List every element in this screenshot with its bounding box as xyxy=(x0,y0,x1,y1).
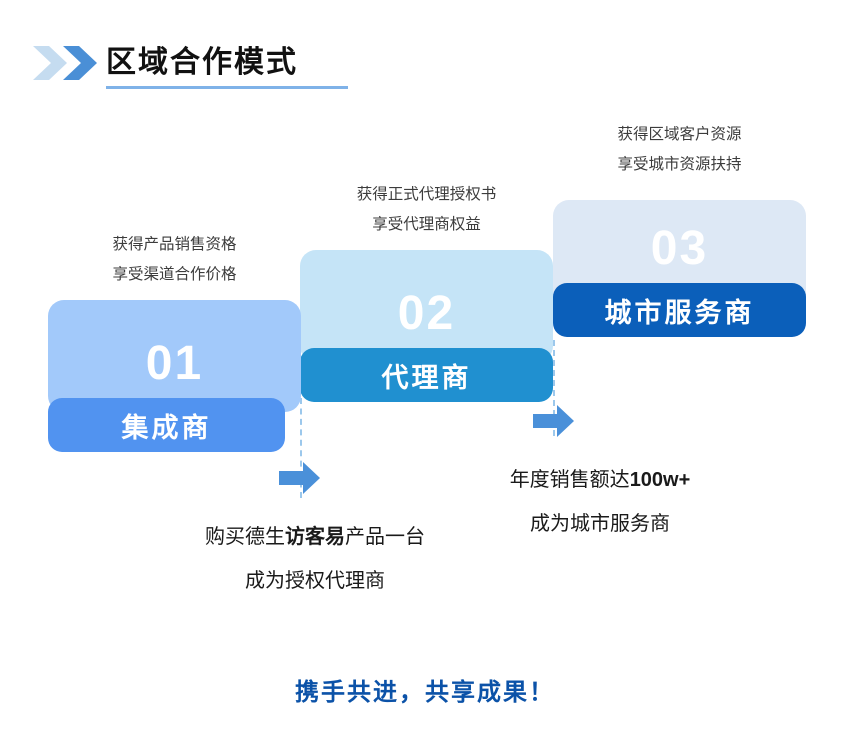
title-underline xyxy=(106,86,348,89)
step-caption-1-line-2: 享受渠道合作价格 xyxy=(48,260,301,290)
step-number-2: 02 xyxy=(300,290,553,338)
page-title: 区域合作模式 xyxy=(106,44,298,82)
step-card-1-band: 集成商 xyxy=(48,398,285,452)
step-name-3: 城市服务商 xyxy=(605,291,755,330)
requirement-note-2-line-1: 年度销售额达100w+ xyxy=(430,458,770,502)
step-caption-2: 获得正式代理授权书 享受代理商权益 xyxy=(300,180,553,240)
requirement-note-2-highlight: 100w+ xyxy=(630,469,691,491)
requirement-note-1-suffix: 产品一台 xyxy=(345,526,425,548)
step-caption-1: 获得产品销售资格 享受渠道合作价格 xyxy=(48,230,301,290)
requirement-note-1-line-2: 成为授权代理商 xyxy=(145,559,485,603)
requirement-note-2: 年度销售额达100w+ 成为城市服务商 xyxy=(430,458,770,546)
flow-arrow-icon-2 xyxy=(533,404,575,438)
requirement-note-1-prefix: 购买德生 xyxy=(205,526,285,548)
step-card-3[interactable]: 03 城市服务商 xyxy=(553,200,806,352)
flow-arrow-icon-1 xyxy=(279,461,321,495)
tagline: 携手共进，共享成果！ xyxy=(0,672,850,707)
step-caption-3-line-1: 获得区域客户资源 xyxy=(553,120,806,150)
step-card-2-band: 代理商 xyxy=(300,348,553,402)
step-name-1: 集成商 xyxy=(122,406,212,445)
step-number-3: 03 xyxy=(553,225,806,273)
step-card-3-band: 城市服务商 xyxy=(553,283,806,337)
step-number-1: 01 xyxy=(48,340,301,388)
step-caption-3-line-2: 享受城市资源扶持 xyxy=(553,150,806,180)
step-caption-2-line-1: 获得正式代理授权书 xyxy=(300,180,553,210)
double-chevron-icon xyxy=(33,44,101,82)
step-card-1[interactable]: 01 集成商 xyxy=(48,300,301,452)
section-header: 区域合作模式 xyxy=(0,0,850,110)
step-caption-2-line-2: 享受代理商权益 xyxy=(300,210,553,240)
step-caption-1-line-1: 获得产品销售资格 xyxy=(48,230,301,260)
infographic-canvas: 区域合作模式 获得区域客户资源 享受城市资源扶持 03 城市服务商 获得正式代理… xyxy=(0,0,850,737)
requirement-note-2-prefix: 年度销售额达 xyxy=(510,469,630,491)
step-name-2: 代理商 xyxy=(382,356,472,395)
step-caption-3: 获得区域客户资源 享受城市资源扶持 xyxy=(553,120,806,180)
step-card-2[interactable]: 02 代理商 xyxy=(300,250,553,402)
requirement-note-2-line-2: 成为城市服务商 xyxy=(430,502,770,546)
requirement-note-1-highlight: 访客易 xyxy=(285,526,345,548)
